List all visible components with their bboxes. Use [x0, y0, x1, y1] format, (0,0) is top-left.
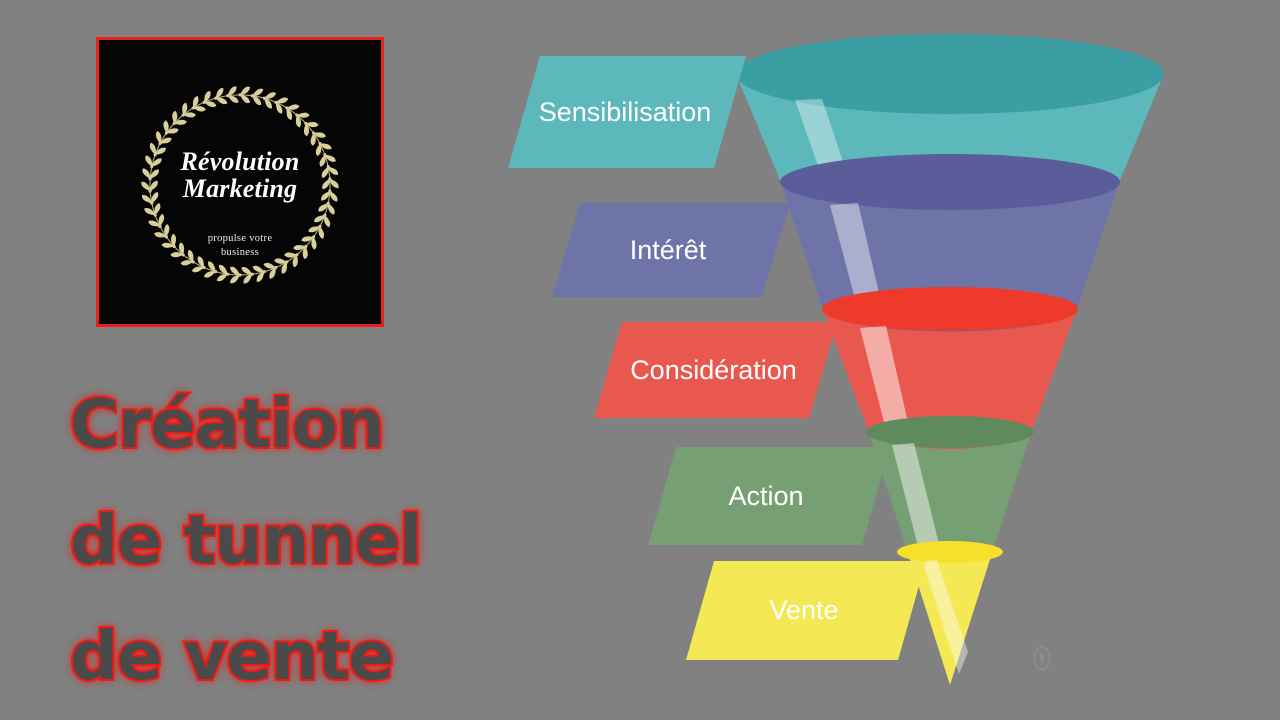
funnel-label-sensibilisation[interactable]: Sensibilisation: [508, 56, 746, 168]
page-title-line2: de tunnel: [70, 482, 540, 598]
funnel-label-text: Considération: [594, 355, 837, 386]
slide-canvas: Révolution Marketing propulse votre busi…: [0, 0, 1280, 720]
logo-tagline-line2: business: [221, 247, 259, 258]
page-title-line3: de vente: [70, 598, 540, 714]
funnel-stage-action: [866, 416, 1034, 561]
funnel-label-consideration[interactable]: Considération: [594, 322, 837, 418]
page-title-line1: Création: [70, 366, 540, 482]
funnel-label-action[interactable]: Action: [648, 447, 890, 545]
logo-tagline: propulse votre business: [99, 232, 381, 259]
logo-brand-line1: Révolution: [180, 147, 299, 176]
funnel-label-text: Action: [648, 481, 890, 512]
logo-brand-name: Révolution Marketing: [99, 148, 381, 202]
funnel-label-text: Sensibilisation: [508, 97, 746, 128]
funnel-stage-5-rim: [897, 541, 1003, 563]
funnel-label-vente[interactable]: Vente: [686, 561, 926, 660]
faint-watermark-icon: [1030, 645, 1054, 671]
funnel-stage-4-rim: [866, 416, 1034, 448]
funnel-label-text: Intérêt: [552, 235, 790, 266]
funnel-stage-2-rim: [780, 154, 1120, 210]
logo-tagline-line1: propulse votre: [208, 233, 273, 244]
logo-brand-line2: Marketing: [183, 174, 297, 203]
funnel-stage-3-rim: [822, 287, 1078, 331]
logo-card: Révolution Marketing propulse votre busi…: [96, 37, 384, 327]
funnel-label-text: Vente: [686, 595, 926, 626]
funnel-label-interet[interactable]: Intérêt: [552, 203, 790, 297]
page-title: Création de tunnel de vente: [70, 366, 540, 714]
